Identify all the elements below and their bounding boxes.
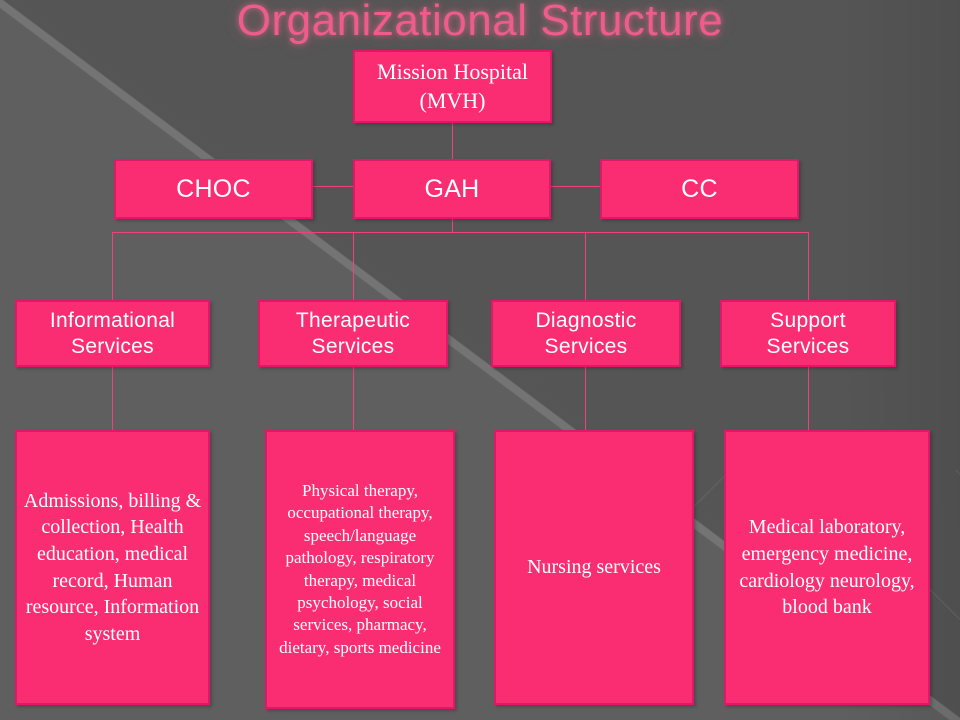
node-informational-services-label: Informational Services	[50, 308, 175, 359]
node-informational-services-line2: Services	[71, 335, 154, 358]
connector-bus-to-support	[808, 232, 809, 300]
node-informational-detail-label: Admissions, billing & collection, Health…	[23, 488, 202, 648]
node-support-detail-label: Medical laboratory, emergency medicine, …	[732, 514, 922, 620]
node-mission-hospital[interactable]: Mission Hospital (MVH)	[353, 50, 552, 123]
connector-gah-to-bus	[452, 219, 453, 233]
node-mission-hospital-line2: (MVH)	[420, 88, 486, 113]
connector-diagnostic-to-detail	[585, 367, 586, 430]
node-diagnostic-detail-label: Nursing services	[527, 554, 661, 581]
node-cc[interactable]: CC	[600, 159, 799, 219]
node-therapeutic-services-line2: Services	[312, 335, 395, 358]
node-support-services[interactable]: Support Services	[720, 300, 896, 367]
connector-service-bus	[112, 232, 809, 233]
node-gah-label: GAH	[424, 174, 479, 204]
node-support-services-line1: Support	[770, 309, 846, 332]
node-choc[interactable]: CHOC	[114, 159, 313, 219]
node-mission-hospital-line1: Mission Hospital	[377, 59, 528, 84]
node-diagnostic-services-line2: Services	[545, 335, 628, 358]
node-therapeutic-services[interactable]: Therapeutic Services	[258, 300, 448, 367]
page-title: Organizational Structure	[0, 0, 960, 46]
connector-support-to-detail	[808, 367, 809, 430]
node-informational-detail[interactable]: Admissions, billing & collection, Health…	[15, 430, 210, 705]
connector-bus-to-therapeutic	[353, 232, 354, 300]
node-diagnostic-detail[interactable]: Nursing services	[494, 430, 694, 705]
node-therapeutic-services-line1: Therapeutic	[296, 309, 410, 332]
connector-informational-to-detail	[112, 367, 113, 430]
node-informational-services-line1: Informational	[50, 309, 175, 332]
node-gah[interactable]: GAH	[353, 159, 551, 219]
node-cc-label: CC	[681, 174, 718, 204]
connector-bus-to-informational	[112, 232, 113, 300]
organizational-chart-slide: Organizational Structure Mission Hospita…	[0, 0, 960, 720]
connector-gah-to-cc	[551, 186, 600, 187]
connector-therapeutic-to-detail	[353, 367, 354, 430]
node-support-detail[interactable]: Medical laboratory, emergency medicine, …	[724, 430, 930, 705]
node-diagnostic-services[interactable]: Diagnostic Services	[491, 300, 681, 367]
connector-choc-to-gah	[313, 186, 353, 187]
node-support-services-line2: Services	[767, 335, 850, 358]
node-support-services-label: Support Services	[767, 308, 850, 359]
connector-bus-to-diagnostic	[585, 232, 586, 300]
node-diagnostic-services-line1: Diagnostic	[535, 309, 636, 332]
node-diagnostic-services-label: Diagnostic Services	[535, 308, 636, 359]
node-therapeutic-detail-label: Physical therapy, occupational therapy, …	[273, 480, 447, 660]
node-therapeutic-detail[interactable]: Physical therapy, occupational therapy, …	[265, 430, 455, 709]
connector-mvh-to-gah	[452, 123, 453, 159]
node-mission-hospital-label: Mission Hospital (MVH)	[377, 58, 528, 114]
node-choc-label: CHOC	[176, 174, 251, 204]
node-informational-services[interactable]: Informational Services	[15, 300, 210, 367]
node-therapeutic-services-label: Therapeutic Services	[296, 308, 410, 359]
